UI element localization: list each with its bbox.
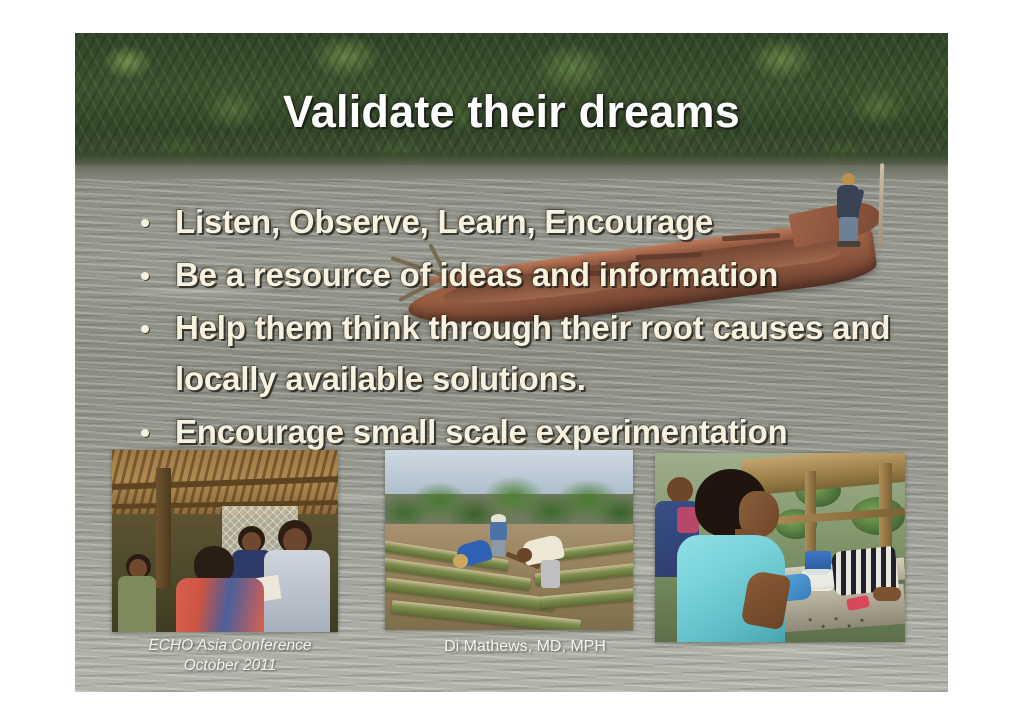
photo-workbench: [655, 453, 905, 642]
bullet-item-2: Be a resource of ideas and information: [125, 249, 948, 300]
person-foreground-back: [174, 546, 266, 632]
footer-conference-name: ECHO Asia Conference: [120, 636, 340, 656]
footer-conference: ECHO Asia Conference October 2011: [120, 636, 340, 676]
slide-title: Validate their dreams: [75, 89, 948, 134]
bullet-list: Listen, Observe, Learn, Encourage Be a r…: [125, 196, 948, 459]
presentation-slide: Validate their dreams Listen, Observe, L…: [75, 33, 948, 692]
child-body: [118, 576, 156, 632]
person-head: [517, 548, 532, 562]
person-striped-sleeve: [833, 549, 905, 621]
slide-page: Validate their dreams Listen, Observe, L…: [0, 0, 1024, 724]
person-jersey: [176, 578, 264, 632]
red-tool: [846, 595, 870, 611]
photo-garden: [385, 450, 633, 630]
photo-meeting: [112, 450, 338, 632]
person-legs: [541, 560, 560, 588]
shelter-post: [156, 468, 171, 588]
bullet-item-1: Listen, Observe, Learn, Encourage: [125, 196, 948, 247]
person-hand: [873, 587, 901, 601]
footer-conference-date: October 2011: [120, 656, 340, 676]
footer-presenter: Di Mathews, MD, MPH: [375, 637, 675, 657]
person-head: [453, 554, 468, 568]
person-bending-white: [517, 536, 573, 588]
person-bending-blue: [453, 538, 497, 572]
person-child-left: [118, 554, 158, 632]
woman-foreground: [673, 469, 791, 642]
bullet-item-3: Help them think through their root cause…: [125, 302, 948, 404]
